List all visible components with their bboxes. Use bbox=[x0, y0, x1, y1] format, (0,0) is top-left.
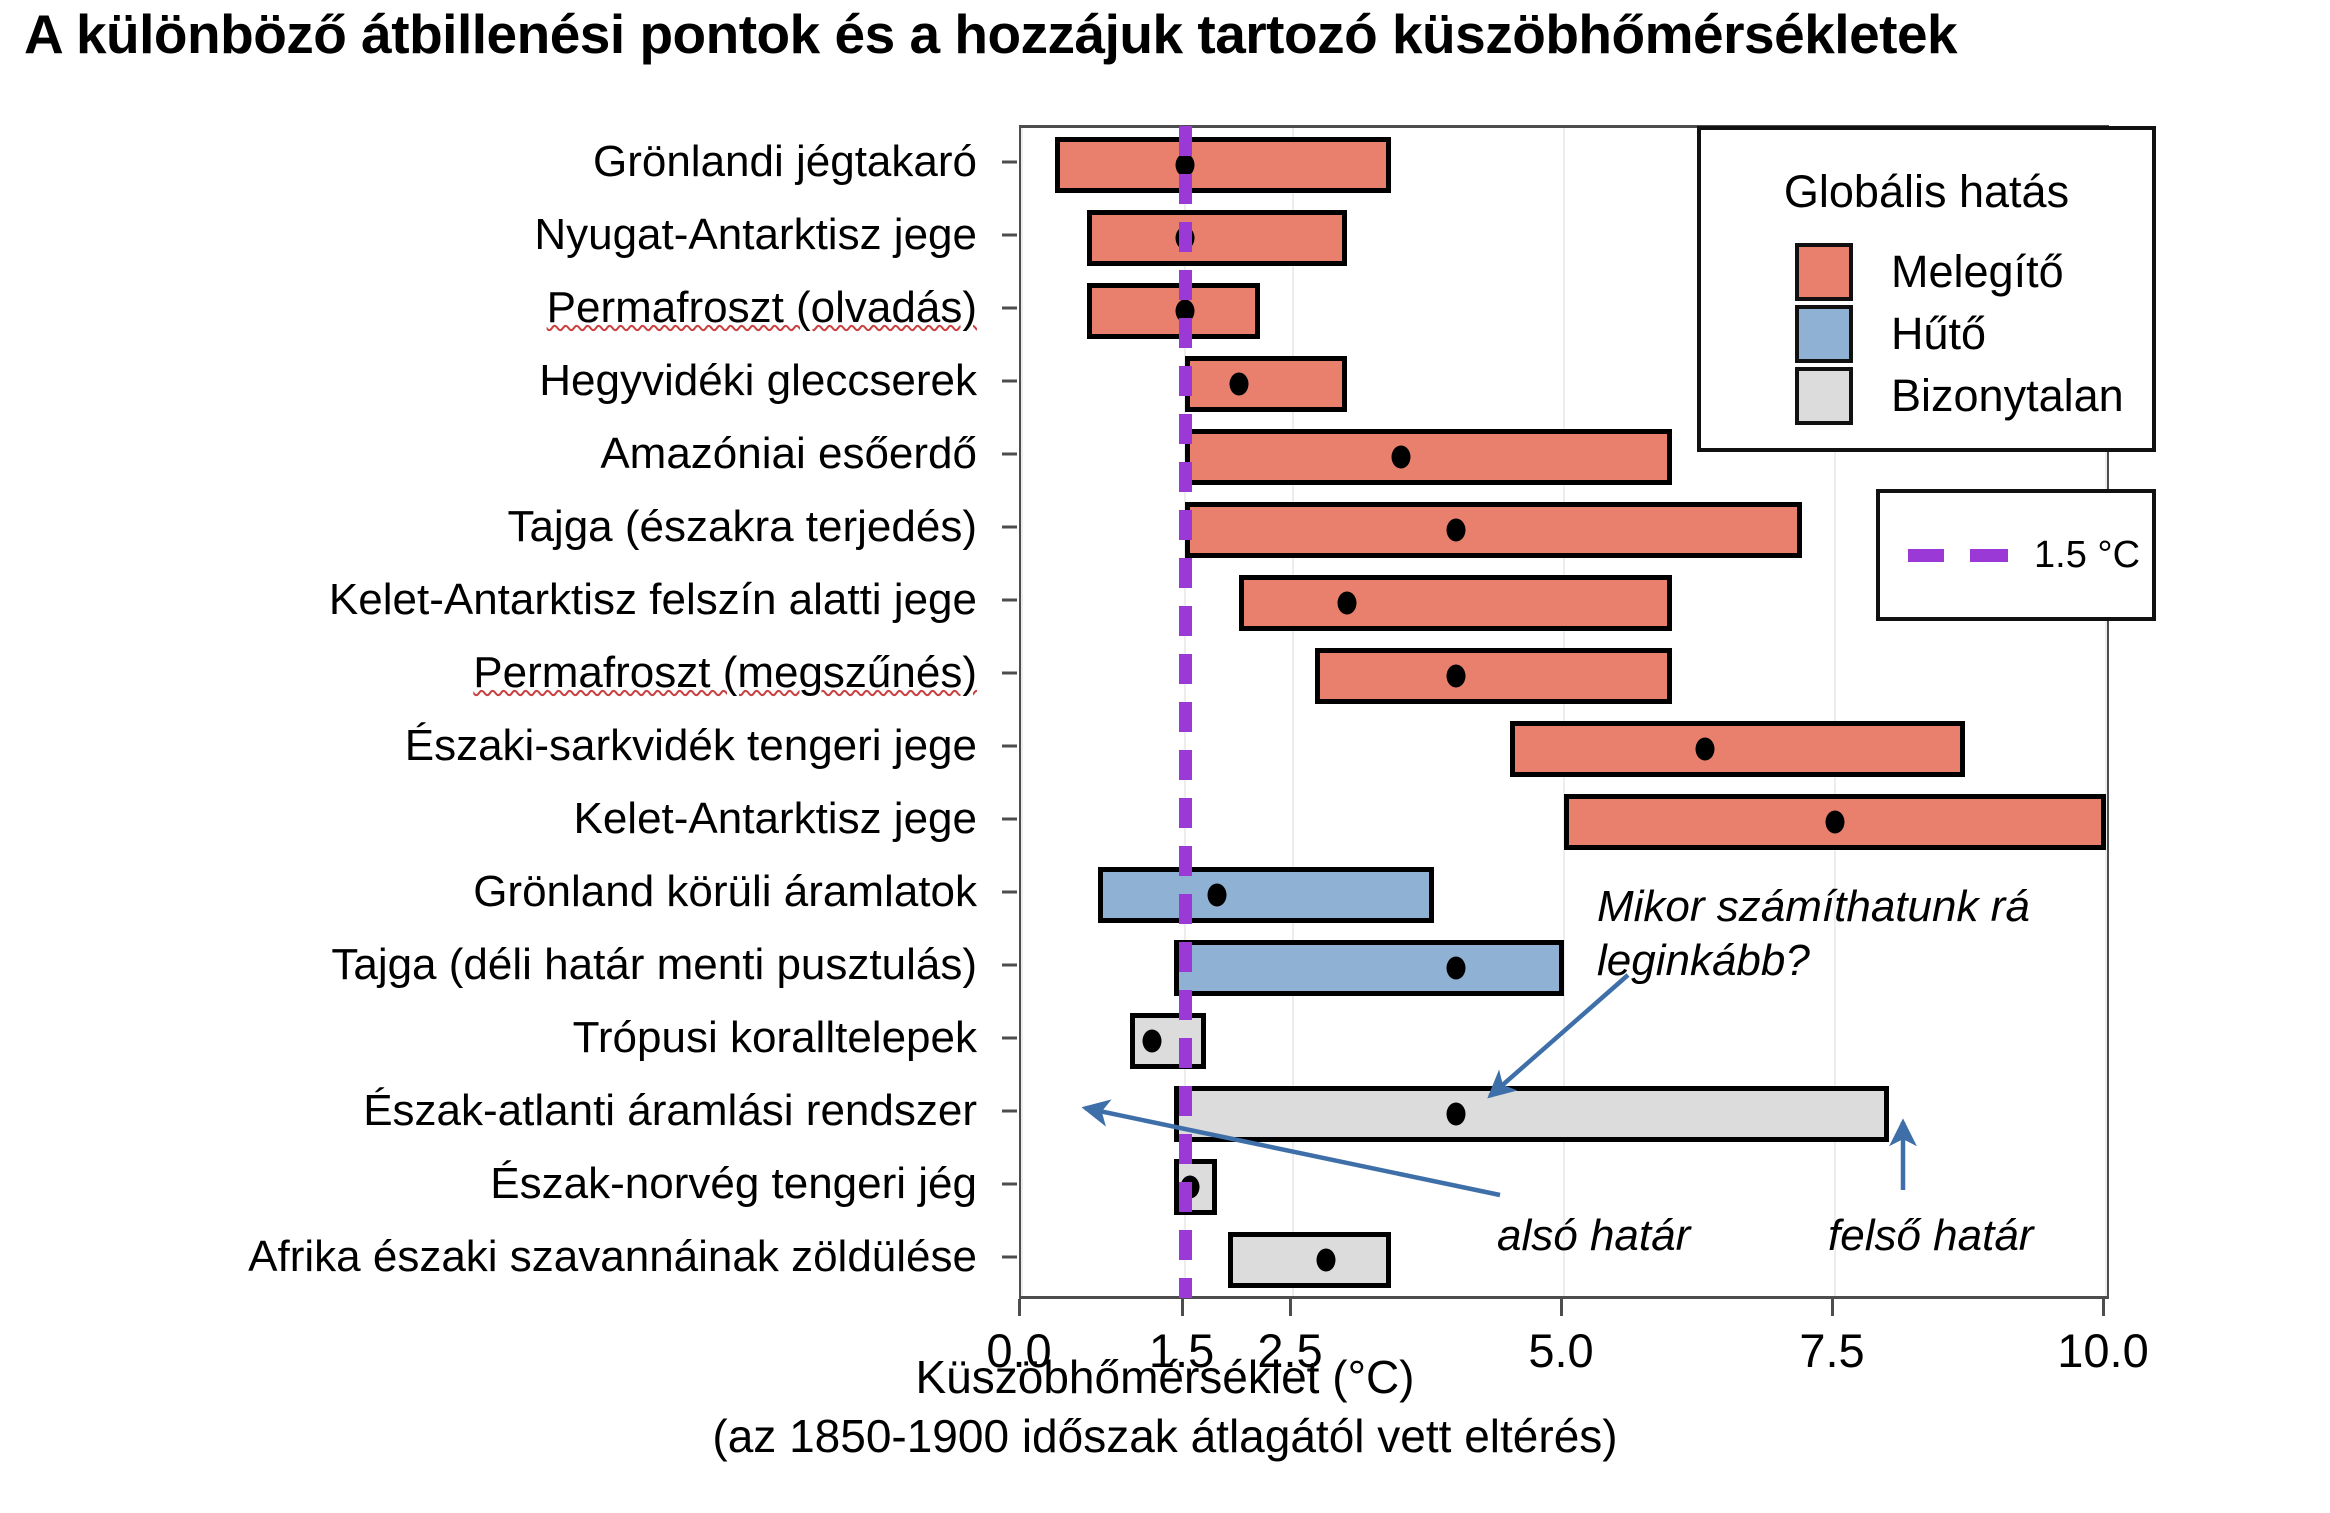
reference-line-1p5c bbox=[1179, 126, 1192, 1298]
legend-item-label: Bizonytalan bbox=[1891, 370, 2124, 422]
annotation-best-estimate: Mikor számíthatunk rá leginkább? bbox=[1597, 880, 2030, 987]
best-estimate-dot-8 bbox=[1446, 664, 1465, 687]
best-estimate-dot-5 bbox=[1392, 445, 1411, 468]
y-axis-label-13: Trópusi koralltelepek bbox=[573, 1013, 977, 1063]
y-axis-label-3: Permafroszt (olvadás) bbox=[547, 283, 977, 333]
y-axis-tick-12 bbox=[1002, 963, 1017, 966]
best-estimate-dot-12 bbox=[1446, 956, 1465, 979]
chart-container: A különböző átbillenési pontok és a hozz… bbox=[0, 0, 2330, 1513]
best-estimate-dot-9 bbox=[1695, 737, 1714, 760]
y-axis-label-7: Kelet-Antarktisz felszín alatti jege bbox=[329, 575, 977, 625]
x-axis-tick-5 bbox=[1831, 1299, 1834, 1316]
y-axis-tick-6 bbox=[1002, 525, 1017, 528]
y-axis-tick-5 bbox=[1002, 452, 1017, 455]
y-axis-tick-13 bbox=[1002, 1036, 1017, 1039]
x-axis-title: Küszöbhőmérséklet (°C) (az 1850-1900 idő… bbox=[0, 1348, 2330, 1466]
y-axis-tick-9 bbox=[1002, 744, 1017, 747]
legend-item-label: Melegítő bbox=[1891, 246, 2064, 298]
legend-global-impact: Globális hatás MelegítőHűtőBizonytalan bbox=[1697, 126, 2156, 452]
legend-swatch-icon bbox=[1795, 243, 1853, 301]
y-axis-label-5: Amazóniai esőerdő bbox=[600, 429, 977, 479]
y-axis-label-10: Kelet-Antarktisz jege bbox=[573, 794, 977, 844]
bar-11 bbox=[1098, 867, 1434, 923]
legend-reference-line: 1.5 °C bbox=[1876, 489, 2156, 621]
bar-2 bbox=[1087, 210, 1347, 266]
y-axis-label-12: Tajga (déli határ menti pusztulás) bbox=[331, 940, 977, 990]
legend-swatch-icon bbox=[1795, 305, 1853, 363]
y-axis-label-6: Tajga (északra terjedés) bbox=[507, 502, 977, 552]
best-estimate-dot-14 bbox=[1446, 1102, 1465, 1125]
annotation-lower-bound: alsó határ bbox=[1497, 1209, 1690, 1263]
bar-3 bbox=[1087, 283, 1260, 339]
bar-9 bbox=[1510, 721, 1965, 777]
y-axis-label-15: Észak-norvég tengeri jég bbox=[490, 1159, 977, 1209]
legend-item-2: Hűtő bbox=[1795, 304, 1986, 364]
y-axis-label-16: Afrika északi szavannáinak zöldülése bbox=[248, 1232, 977, 1282]
y-axis-tick-15 bbox=[1002, 1182, 1017, 1185]
y-axis-label-4: Hegyvidéki gleccserek bbox=[539, 356, 977, 406]
best-estimate-dot-11 bbox=[1208, 883, 1227, 906]
y-axis-label-1: Grönlandi jégtakaró bbox=[593, 137, 977, 187]
page-title: A különböző átbillenési pontok és a hozz… bbox=[24, 6, 2314, 64]
y-axis-tick-10 bbox=[1002, 817, 1017, 820]
annotation-upper-bound: felső határ bbox=[1828, 1209, 2033, 1263]
best-estimate-dot-16 bbox=[1316, 1248, 1335, 1271]
dashed-line-icon bbox=[1908, 549, 2008, 562]
bar-12 bbox=[1174, 940, 1564, 996]
best-estimate-dot-6 bbox=[1446, 518, 1465, 541]
bar-6 bbox=[1185, 502, 1803, 558]
x-axis-tick-3 bbox=[1289, 1299, 1292, 1316]
x-axis-tick-6 bbox=[2102, 1299, 2105, 1316]
y-axis-label-2: Nyugat-Antarktisz jege bbox=[534, 210, 977, 260]
legend-line-label: 1.5 °C bbox=[2034, 534, 2140, 577]
gridline bbox=[1021, 128, 1023, 1296]
legend-title: Globális hatás bbox=[1701, 166, 2152, 218]
best-estimate-dot-7 bbox=[1338, 591, 1357, 614]
best-estimate-dot-10 bbox=[1826, 810, 1845, 833]
legend-swatch-icon bbox=[1795, 367, 1853, 425]
bar-7 bbox=[1239, 575, 1673, 631]
y-axis-tick-8 bbox=[1002, 671, 1017, 674]
bar-14 bbox=[1174, 1086, 1889, 1142]
legend-item-label: Hűtő bbox=[1891, 308, 1986, 360]
bar-4 bbox=[1185, 356, 1348, 412]
y-axis-tick-1 bbox=[1002, 160, 1017, 163]
y-axis-tick-4 bbox=[1002, 379, 1017, 382]
y-axis-label-9: Északi-sarkvidék tengeri jege bbox=[405, 721, 977, 771]
y-axis-tick-7 bbox=[1002, 598, 1017, 601]
y-axis-label-8: Permafroszt (megszűnés) bbox=[473, 648, 977, 698]
x-axis-title-line2: (az 1850-1900 időszak átlagától vett elt… bbox=[0, 1407, 2330, 1466]
x-axis-tick-2 bbox=[1181, 1299, 1184, 1316]
bar-5 bbox=[1185, 429, 1673, 485]
bar-8 bbox=[1315, 648, 1673, 704]
legend-item-1: Melegítő bbox=[1795, 242, 2064, 302]
best-estimate-dot-4 bbox=[1229, 372, 1248, 395]
y-axis-tick-2 bbox=[1002, 233, 1017, 236]
x-axis-tick-1 bbox=[1018, 1299, 1021, 1316]
best-estimate-dot-13 bbox=[1143, 1029, 1162, 1052]
y-axis-tick-16 bbox=[1002, 1255, 1017, 1258]
y-axis-tick-11 bbox=[1002, 890, 1017, 893]
y-axis-label-14: Észak-atlanti áramlási rendszer bbox=[363, 1086, 977, 1136]
x-axis-title-line1: Küszöbhőmérséklet (°C) bbox=[0, 1348, 2330, 1407]
y-axis-tick-14 bbox=[1002, 1109, 1017, 1112]
x-axis-tick-4 bbox=[1560, 1299, 1563, 1316]
bar-1 bbox=[1055, 137, 1391, 193]
bar-16 bbox=[1228, 1232, 1391, 1288]
y-axis-label-11: Grönland körüli áramlatok bbox=[473, 867, 977, 917]
y-axis-tick-3 bbox=[1002, 306, 1017, 309]
legend-item-3: Bizonytalan bbox=[1795, 366, 2124, 426]
